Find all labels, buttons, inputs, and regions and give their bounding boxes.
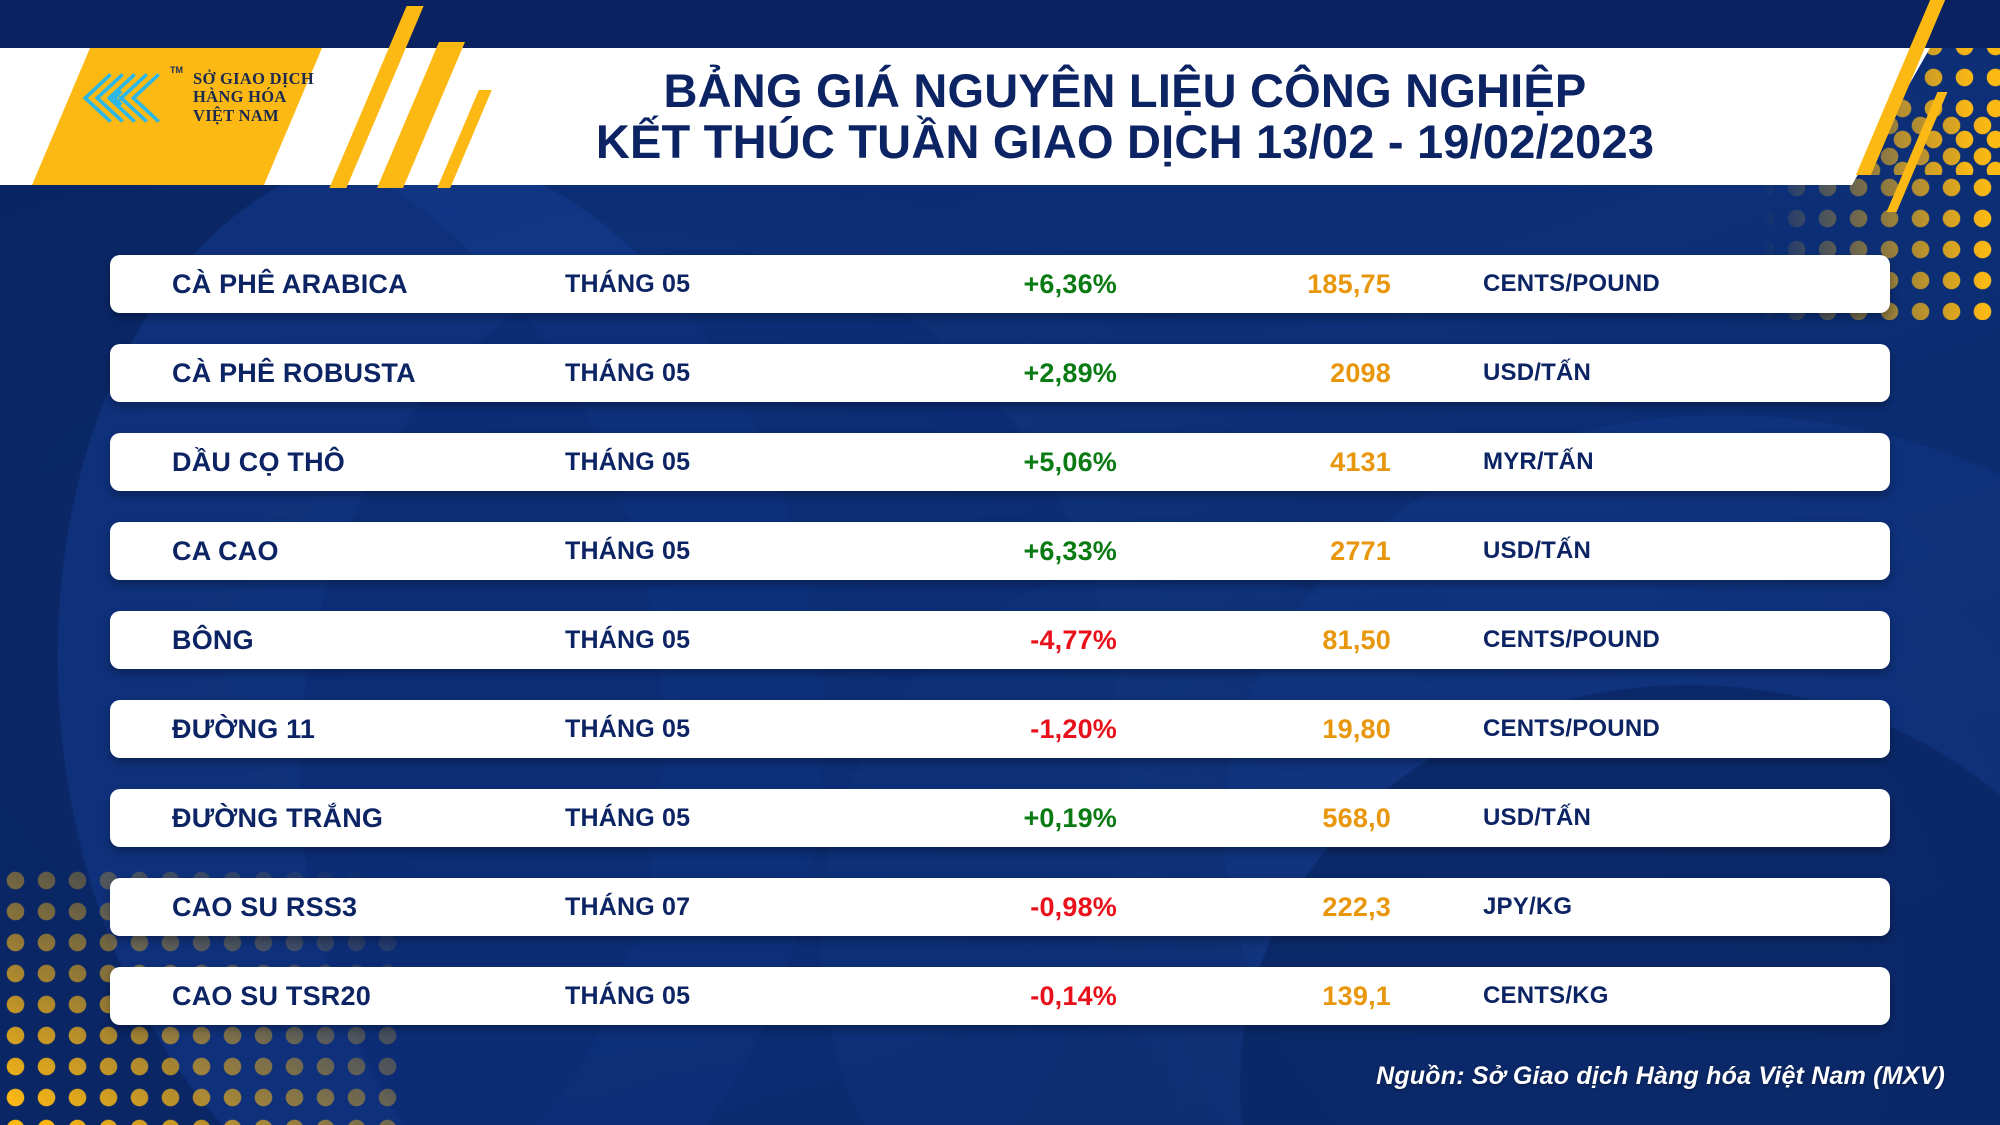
price-change: -0,14% [865,981,1175,1012]
mxv-maze-logo-icon [80,69,166,127]
title-line-2: KẾT THÚC TUẦN GIAO DỊCH 13/02 - 19/02/20… [596,117,1654,167]
brand-name-line2: HÀNG HÓA [193,88,314,106]
table-row[interactable]: BÔNGTHÁNG 05-4,77%81,50CENTS/POUND [110,611,1890,669]
contract-month: THÁNG 05 [565,359,865,388]
price-value: 222,3 [1175,892,1445,923]
price-change: +6,36% [865,269,1175,300]
table-row[interactable]: CÀ PHÊ ROBUSTATHÁNG 05+2,89%2098USD/TẤN [110,344,1890,402]
price-value: 2771 [1175,536,1445,567]
price-unit: MYR/TẤN [1445,448,1890,476]
table-row[interactable]: ĐƯỜNG 11THÁNG 05-1,20%19,80CENTS/POUND [110,700,1890,758]
price-change: +6,33% [865,536,1175,567]
table-row[interactable]: ĐƯỜNG TRẮNGTHÁNG 05+0,19%568,0USD/TẤN [110,789,1890,847]
price-unit: USD/TẤN [1445,537,1890,565]
price-value: 19,80 [1175,714,1445,745]
contract-month: THÁNG 05 [565,448,865,477]
contract-month: THÁNG 05 [565,626,865,655]
price-unit: CENTS/KG [1445,982,1890,1010]
price-value: 185,75 [1175,269,1445,300]
price-unit: JPY/KG [1445,893,1890,921]
price-change: +0,19% [865,803,1175,834]
price-unit: USD/TẤN [1445,359,1890,387]
commodity-name: CA CAO [110,536,565,567]
brand-name-line3: VIỆT NAM [193,107,314,125]
brand-logo: TM SỞ GIAO DỊCH HÀNG HÓA VIỆT NAM [80,55,330,140]
title-line-1: BẢNG GIÁ NGUYÊN LIỆU CÔNG NGHIỆP [664,66,1587,116]
commodity-price-table: CÀ PHÊ ARABICATHÁNG 05+6,36%185,75CENTS/… [110,255,1890,1056]
contract-month: THÁNG 05 [565,270,865,299]
trademark-symbol: TM [170,65,183,75]
commodity-name: ĐƯỜNG 11 [110,714,565,745]
page-title: BẢNG GIÁ NGUYÊN LIỆU CÔNG NGHIỆP KẾT THÚ… [470,48,1780,185]
table-row[interactable]: CA CAOTHÁNG 05+6,33%2771USD/TẤN [110,522,1890,580]
commodity-name: CAO SU TSR20 [110,981,565,1012]
header-navy-band [0,0,2000,48]
price-change: -0,98% [865,892,1175,923]
price-value: 4131 [1175,447,1445,478]
contract-month: THÁNG 05 [565,982,865,1011]
price-unit: CENTS/POUND [1445,715,1890,743]
table-row[interactable]: DẦU CỌ THÔTHÁNG 05+5,06%4131MYR/TẤN [110,433,1890,491]
price-value: 2098 [1175,358,1445,389]
commodity-name: BÔNG [110,625,565,656]
commodity-name: CÀ PHÊ ROBUSTA [110,358,565,389]
commodity-name: CAO SU RSS3 [110,892,565,923]
table-row[interactable]: CAO SU RSS3THÁNG 07-0,98%222,3JPY/KG [110,878,1890,936]
contract-month: THÁNG 05 [565,804,865,833]
header: TM SỞ GIAO DỊCH HÀNG HÓA VIỆT NAM BẢNG G… [0,0,2000,185]
commodity-name: CÀ PHÊ ARABICA [110,269,565,300]
commodity-name: DẦU CỌ THÔ [110,447,565,478]
price-change: -1,20% [865,714,1175,745]
price-value: 139,1 [1175,981,1445,1012]
price-change: +2,89% [865,358,1175,389]
commodity-name: ĐƯỜNG TRẮNG [110,803,565,834]
contract-month: THÁNG 07 [565,893,865,922]
price-change: -4,77% [865,625,1175,656]
price-value: 81,50 [1175,625,1445,656]
price-unit: CENTS/POUND [1445,626,1890,654]
price-change: +5,06% [865,447,1175,478]
contract-month: THÁNG 05 [565,715,865,744]
table-row[interactable]: CÀ PHÊ ARABICATHÁNG 05+6,36%185,75CENTS/… [110,255,1890,313]
brand-name-line1: SỞ GIAO DỊCH [193,70,314,88]
table-row[interactable]: CAO SU TSR20THÁNG 05-0,14%139,1CENTS/KG [110,967,1890,1025]
price-unit: USD/TẤN [1445,804,1890,832]
brand-name: SỞ GIAO DỊCH HÀNG HÓA VIỆT NAM [193,70,314,125]
contract-month: THÁNG 05 [565,537,865,566]
price-unit: CENTS/POUND [1445,270,1890,298]
source-note: Nguồn: Sở Giao dịch Hàng hóa Việt Nam (M… [1376,1062,1945,1091]
price-value: 568,0 [1175,803,1445,834]
